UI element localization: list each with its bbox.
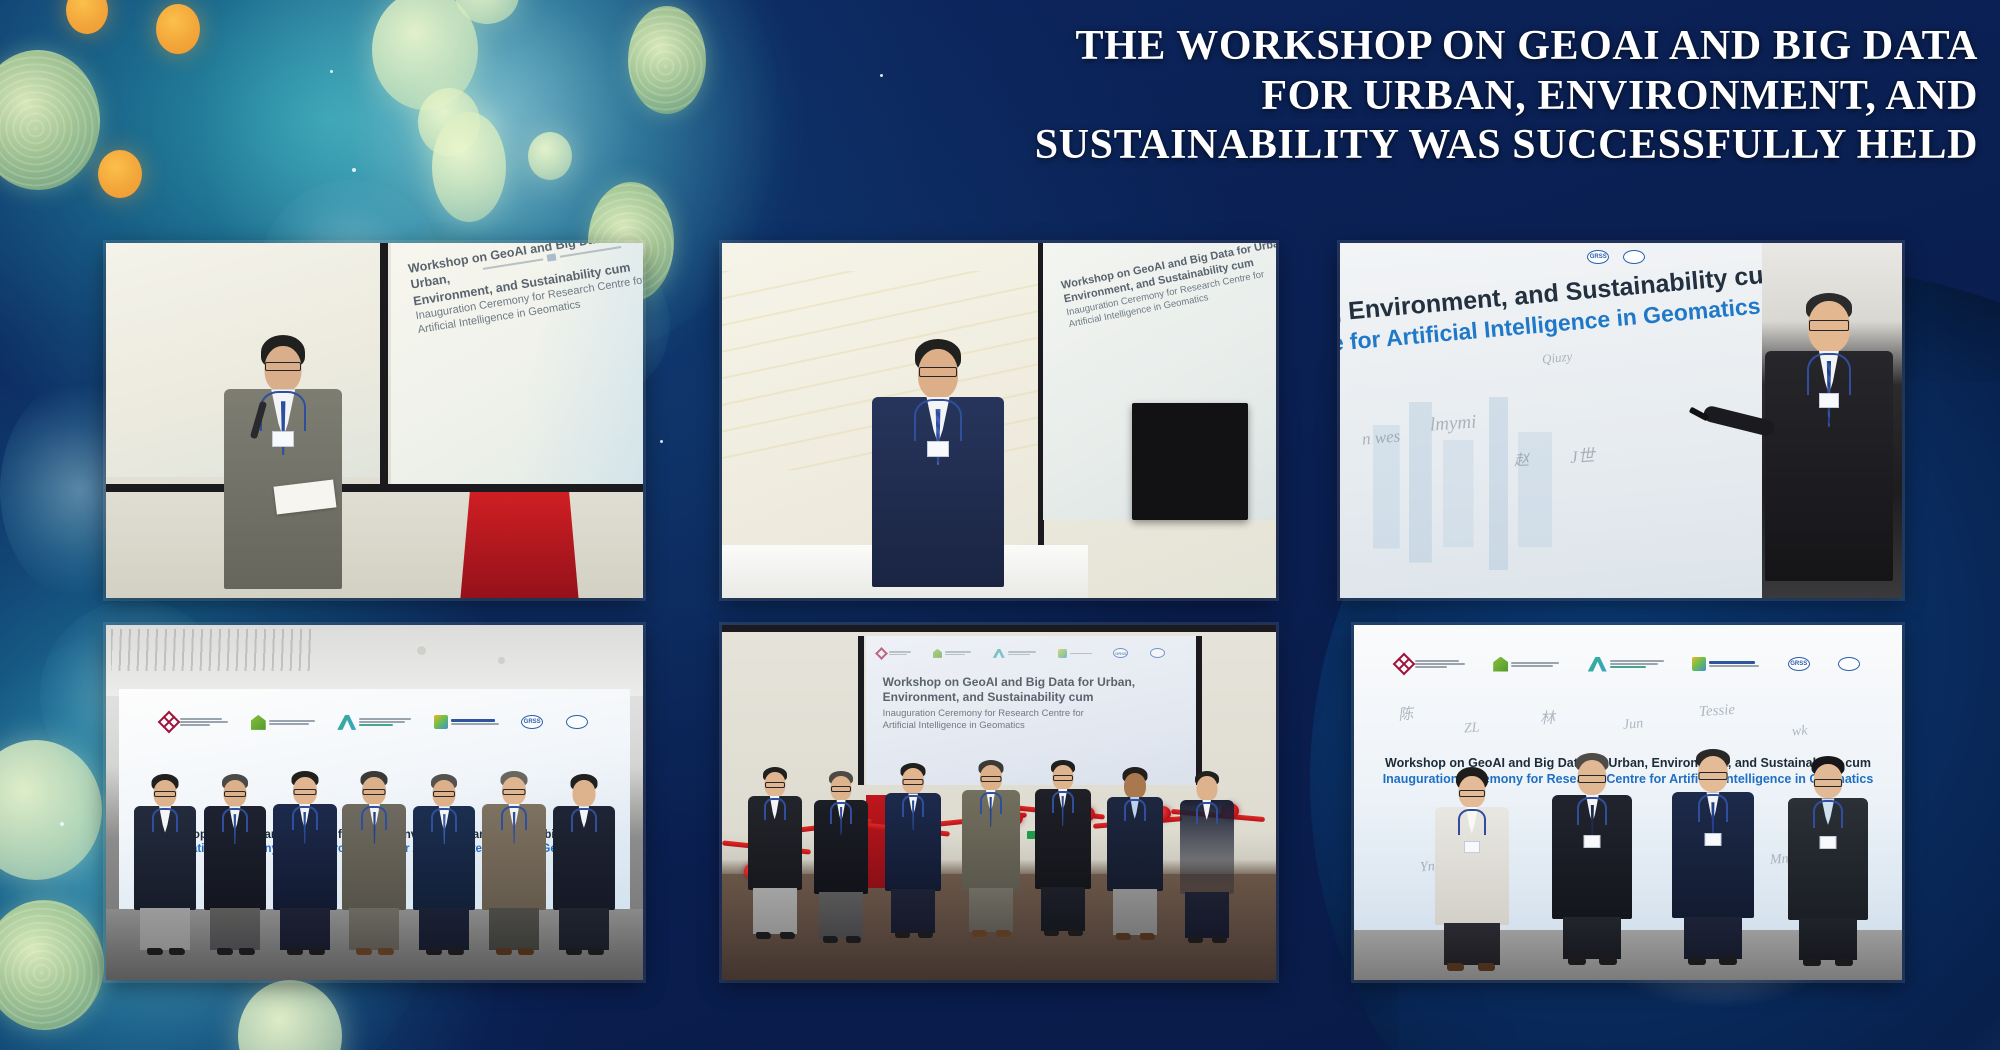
bokeh-circle (98, 150, 142, 198)
logo-polyu (1396, 656, 1465, 672)
logo-text (359, 718, 411, 726)
society-logo-icon (1623, 250, 1645, 264)
lanyard (260, 391, 306, 431)
presenter-monitor (1132, 403, 1248, 520)
signature: Qiuzy (1542, 348, 1574, 367)
photo-board-signing: n, Environment, and Sustainability cum r… (1340, 243, 1902, 598)
bokeh-circle (156, 4, 200, 54)
jcstem-logo-icon (251, 715, 266, 730)
sparkle-speck (352, 168, 356, 172)
jcstem-logo-icon (1493, 657, 1508, 672)
signature: 陈 (1397, 702, 1414, 725)
bokeh-circle (238, 980, 342, 1050)
logo-jcstem (251, 715, 315, 730)
person (482, 771, 546, 959)
glasses-icon (1809, 320, 1849, 331)
rils-logo-icon (1692, 657, 1706, 671)
grss-logo-icon: GRSS (521, 715, 543, 729)
slide-line-2: Environment, and Sustainability cum (883, 690, 1193, 706)
logo-text (1415, 660, 1465, 668)
bokeh-circle (0, 900, 104, 1030)
grss-logo-icon: GRSS (1587, 250, 1609, 264)
photo-podium-speech: Workshop on GeoAI and Big Data for Urban… (722, 243, 1276, 598)
person (203, 774, 267, 959)
poster-title: THE WORKSHOP ON GEOAI AND BIG DATA FOR U… (818, 22, 1978, 171)
sparkle-speck (60, 822, 64, 826)
logo-rils (434, 715, 499, 729)
grss-logo-icon: GRSS (1113, 648, 1128, 658)
signature: 林 (1540, 706, 1556, 728)
poster-title-line-3: SUSTAINABILITY WAS SUCCESSFULLY HELD (818, 121, 1978, 171)
slide-logo-row: GRSS (877, 643, 1165, 664)
person (811, 771, 872, 945)
sparkle-speck (660, 440, 663, 443)
signature: Jun (1622, 716, 1644, 734)
photo-group-seven: GRSS Workshop on GeoAI and Big Data for … (106, 625, 643, 980)
grss-logo-icon: GRSS (1788, 657, 1810, 671)
photo-ribbon-cutting: GRSS Workshop on GeoAI and Big Data for … (722, 625, 1276, 980)
asg-logo-icon (993, 649, 1005, 658)
signature: ZL (1463, 720, 1480, 737)
signature: Tessie (1699, 702, 1736, 721)
lanyard (1807, 353, 1851, 395)
name-badge (272, 431, 294, 447)
rils-logo-icon (1058, 649, 1067, 658)
person (133, 774, 197, 959)
logo-text (269, 720, 315, 725)
logo-jcstem (1493, 657, 1559, 672)
sparkle-speck (330, 70, 333, 73)
logo-rils (1692, 657, 1759, 671)
bokeh-circle (418, 88, 480, 156)
bokeh-circle (66, 0, 108, 34)
jcstem-logo-icon (933, 649, 942, 658)
photo-speaker-mic: Workshop on GeoAI and Big Data for Urban… (106, 243, 643, 598)
person (272, 771, 336, 959)
bokeh-circle (528, 132, 572, 180)
photo-group-four: GRSS 陈 ZL 林 Jun Tessie wk Yn Lu Mng Work… (1354, 625, 1902, 980)
society-logo-icon (1838, 657, 1860, 671)
bokeh-circle (372, 0, 478, 110)
logo-text (180, 718, 228, 726)
person (552, 774, 616, 959)
board-logo-row: GRSS (1587, 250, 1645, 264)
society-logo-icon (566, 715, 588, 729)
banner-logo-row: GRSS (119, 706, 629, 738)
signature: n wes (1362, 426, 1402, 449)
person (960, 760, 1021, 945)
polyu-logo-icon (1392, 653, 1415, 676)
screen-divider (858, 636, 864, 785)
asg-logo-icon (337, 715, 356, 730)
signature: wk (1792, 724, 1809, 741)
bokeh-circle (0, 50, 100, 190)
ceiling-rail (722, 625, 1276, 632)
signature: lmymi (1429, 412, 1477, 437)
logo-polyu (161, 714, 228, 730)
logo-text (1511, 662, 1559, 667)
lanyard (914, 399, 962, 441)
red-draped-plaque (460, 492, 578, 599)
bokeh-circle (455, 0, 519, 24)
skyline-watermark (1351, 392, 1733, 598)
society-logo-icon (1150, 648, 1165, 658)
bokeh-circle (0, 740, 102, 880)
poster-title-line-2: FOR URBAN, ENVIRONMENT, AND (818, 72, 1978, 122)
logo-text (1610, 660, 1664, 668)
person (1431, 767, 1513, 966)
poster-title-line-1: THE WORKSHOP ON GEOAI AND BIG DATA (818, 22, 1978, 72)
bokeh-circle (432, 112, 506, 222)
slide-line-4: Artificial Intelligence in Geomatics (883, 720, 1193, 732)
glasses-icon (265, 362, 301, 371)
name-badge (1819, 393, 1839, 408)
person (883, 763, 944, 944)
signature: J世 (1570, 441, 1596, 468)
person-speaker (838, 339, 1037, 598)
person-signing (1756, 293, 1902, 598)
person (744, 767, 805, 945)
screen-divider (1196, 636, 1202, 785)
polyu-logo-icon (875, 647, 888, 660)
slide-text-block: Workshop on GeoAI and Big Data for Urban… (883, 675, 1193, 733)
person (1104, 767, 1165, 945)
logo-asg (1588, 657, 1664, 672)
asg-logo-icon (1588, 657, 1607, 672)
slide-line-1: Workshop on GeoAI and Big Data for Urban… (883, 675, 1193, 691)
person (1787, 756, 1869, 965)
logo-asg (337, 715, 411, 730)
slide-line-3: Inauguration Ceremony for Research Centr… (883, 708, 1193, 720)
polyu-logo-icon (158, 711, 181, 734)
person (412, 774, 476, 959)
bokeh-circle (628, 6, 706, 114)
name-badge (927, 441, 949, 457)
rils-logo-icon (434, 715, 448, 729)
person (1176, 771, 1237, 945)
ceiling-rails (111, 629, 315, 672)
signature: 赵 (1514, 449, 1530, 471)
person (342, 771, 406, 959)
banner-logo-row: GRSS (1354, 643, 1902, 686)
logo-text (1709, 661, 1759, 667)
logo-text (451, 719, 499, 725)
person-speaker (181, 335, 385, 598)
person (1672, 749, 1754, 966)
person (1551, 753, 1633, 966)
glasses-icon (919, 367, 957, 377)
ceiling-light (498, 657, 505, 664)
poster-canvas: THE WORKSHOP ON GEOAI AND BIG DATA FOR U… (0, 0, 2000, 1050)
person (1032, 760, 1093, 945)
